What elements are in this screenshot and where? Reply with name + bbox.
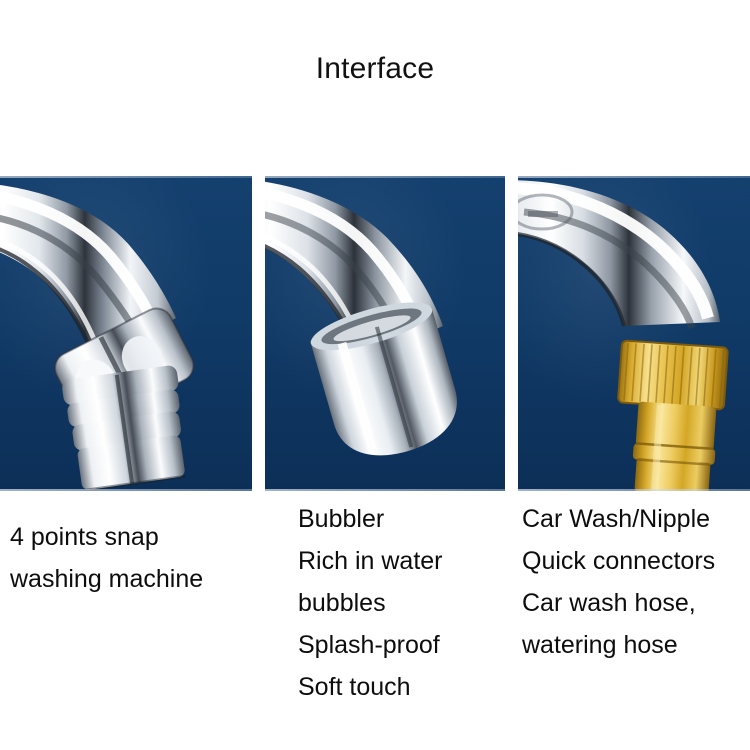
caption-carwash: Car Wash/Nipple Quick connectors Car was…	[522, 498, 715, 666]
panel-bubbler	[265, 176, 505, 491]
faucet-with-brass-quick-connector-image	[518, 176, 750, 491]
faucet-with-four-point-snap-adapter-image	[0, 176, 252, 491]
caption-snap: 4 points snap washing machine	[10, 516, 203, 600]
panel-snap	[0, 176, 252, 491]
caption-line: Rich in water	[298, 540, 443, 582]
caption-line: washing machine	[10, 558, 203, 600]
caption-bubbler: Bubbler Rich in water bubbles Splash-pro…	[298, 498, 443, 708]
caption-line: Car wash hose,	[522, 582, 715, 624]
product-panel-row	[0, 176, 750, 491]
caption-line: Quick connectors	[522, 540, 715, 582]
caption-line: Car Wash/Nipple	[522, 498, 715, 540]
caption-line: Bubbler	[298, 498, 443, 540]
caption-line: Splash-proof	[298, 624, 443, 666]
faucet-with-bubbler-aerator-image	[265, 176, 505, 491]
caption-line: bubbles	[298, 582, 443, 624]
caption-line: watering hose	[522, 624, 715, 666]
page-title: Interface	[0, 52, 750, 86]
panel-carwash	[518, 176, 750, 491]
caption-line: Soft touch	[298, 666, 443, 708]
caption-line: 4 points snap	[10, 516, 203, 558]
